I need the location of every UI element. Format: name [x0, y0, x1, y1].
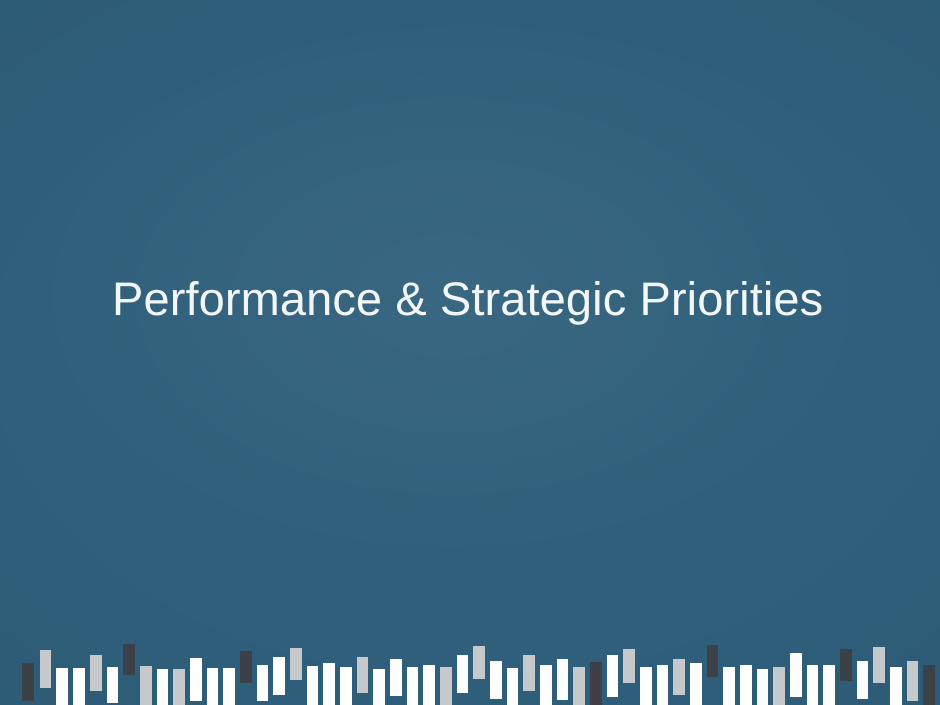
- band-bar: [540, 665, 552, 705]
- band-bar: [773, 667, 785, 705]
- band-bar: [707, 645, 718, 677]
- band-bar: [56, 668, 68, 705]
- band-bar: [857, 661, 868, 699]
- band-bar: [640, 667, 652, 705]
- band-bar: [273, 657, 285, 695]
- title-block: Performance & Strategic Priorities: [0, 268, 940, 348]
- band-bar: [507, 668, 518, 705]
- band-bar: [473, 646, 485, 679]
- band-bar: [907, 661, 918, 701]
- band-bar: [790, 653, 802, 697]
- band-bar: [123, 644, 135, 675]
- band-bar: [757, 669, 768, 705]
- band-bar: [823, 665, 835, 705]
- band-bar: [423, 665, 435, 705]
- background-vignette: [0, 0, 940, 705]
- band-bar: [623, 649, 635, 683]
- band-bar: [590, 662, 602, 705]
- presentation-slide: Performance & Strategic Priorities: [0, 0, 940, 705]
- band-bar: [373, 669, 385, 705]
- band-bar: [690, 663, 702, 705]
- slide-title: Performance & Strategic Priorities: [112, 268, 832, 330]
- band-bar: [890, 667, 902, 705]
- band-bar: [407, 667, 418, 705]
- band-bar: [73, 668, 85, 705]
- band-bar: [457, 655, 468, 693]
- band-bar: [340, 667, 352, 705]
- band-bar: [157, 669, 168, 705]
- band-bar: [357, 657, 368, 693]
- band-bar: [840, 649, 852, 681]
- band-bar: [723, 667, 735, 705]
- band-bar: [523, 655, 535, 691]
- band-bar: [40, 650, 51, 688]
- band-bar: [323, 663, 335, 705]
- band-bar: [440, 667, 452, 705]
- band-bar: [107, 667, 118, 703]
- band-bar: [307, 666, 318, 705]
- band-bar: [223, 668, 235, 705]
- band-bar: [290, 648, 302, 680]
- band-bar: [22, 663, 34, 701]
- band-bar: [190, 658, 202, 701]
- band-bar: [740, 665, 752, 705]
- band-bar: [657, 665, 668, 705]
- band-bar: [257, 665, 268, 701]
- band-bar: [490, 661, 502, 699]
- band-bar: [673, 659, 685, 695]
- band-bar: [390, 659, 402, 696]
- band-bar: [573, 667, 585, 705]
- band-bar: [140, 666, 152, 705]
- band-bar: [173, 669, 185, 705]
- band-bar: [90, 655, 102, 691]
- band-bar: [607, 655, 618, 697]
- band-bar: [873, 647, 885, 683]
- band-bar: [207, 668, 218, 705]
- band-bar: [923, 665, 935, 705]
- band-bar: [807, 665, 818, 705]
- band-bar: [557, 659, 568, 700]
- decorative-bar-band: [0, 643, 940, 705]
- band-bar: [240, 651, 252, 683]
